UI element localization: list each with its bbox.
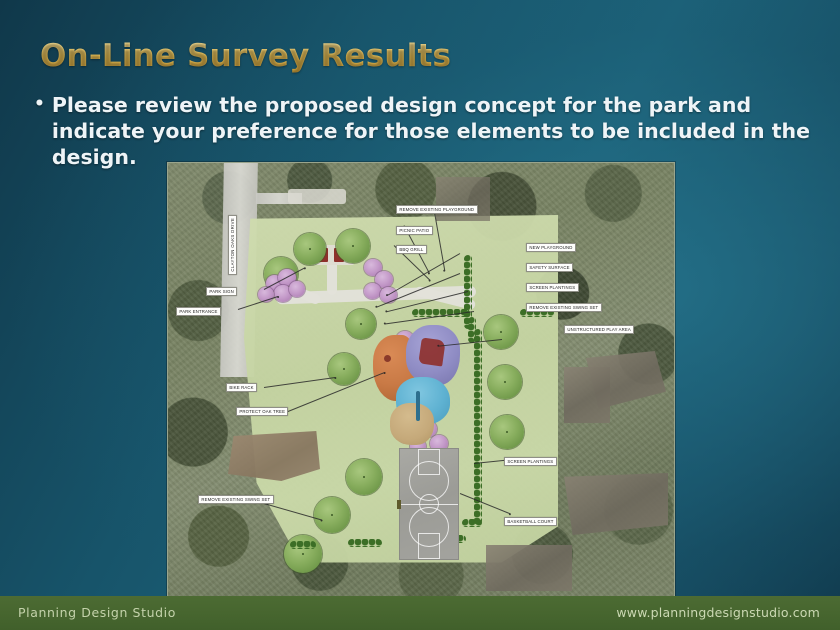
screen-planting-hedge	[462, 519, 482, 527]
tree	[328, 353, 360, 385]
callout-screen-plantings-top: SCREEN PLANTINGS	[526, 283, 579, 292]
callout-new-playground: NEW PLAYGROUND	[526, 243, 576, 252]
court-arc-top	[409, 461, 449, 501]
screen-planting-hedge	[290, 541, 316, 549]
presentation-slide: On-Line Survey Results • Please review t…	[0, 0, 840, 630]
callout-picnic-patio: PICNIC PATIO	[396, 226, 433, 235]
tree	[488, 365, 522, 399]
tree	[484, 315, 518, 349]
court-hoop	[397, 500, 401, 509]
bullet-marker-icon: •	[34, 92, 45, 171]
callout-remove-existing-swing-set-top: REMOVE EXISTING SWING SET	[526, 303, 602, 312]
tree	[314, 497, 350, 533]
callout-bbq-grill: BBQ GRILL	[396, 245, 427, 254]
court-arc-bottom	[409, 507, 449, 547]
play-structure-equipment	[418, 337, 445, 366]
callout-remove-existing-playground: REMOVE EXISTING PLAYGROUND	[396, 205, 478, 214]
tree	[336, 229, 370, 263]
screen-planting-hedge	[348, 539, 382, 547]
tree	[294, 233, 326, 265]
neighbor-house-east-mid	[564, 367, 610, 423]
play-zone-tan	[390, 403, 434, 445]
footer-website-url[interactable]: www.planningdesignstudio.com	[616, 605, 820, 620]
slide-footer: Planning Design Studio www.planningdesig…	[0, 596, 840, 630]
page-title: On-Line Survey Results	[40, 38, 451, 74]
callout-screen-plantings-bottom: SCREEN PLANTINGS	[504, 457, 557, 466]
tree	[490, 415, 524, 449]
neighbor-house-east-lower	[562, 473, 668, 535]
street-label-clayton-oaks-drive: CLAYTON OAKS DRIVE	[228, 215, 237, 275]
basketball-court-surface	[399, 448, 459, 560]
callout-park-entrance: PARK ENTRANCE	[176, 307, 221, 316]
bullet-paragraph: • Please review the proposed design conc…	[34, 92, 824, 171]
flowering-shrub	[289, 281, 305, 297]
bullet-text: Please review the proposed design concep…	[52, 92, 824, 171]
park-site-plan-image: CLAYTON OAKS DRIVE REMOVE EXISTING PLAYG…	[167, 162, 675, 598]
tree	[346, 309, 376, 339]
screen-planting-hedge	[474, 329, 482, 525]
callout-basketball-court: BASKETBALL COURT	[504, 517, 557, 526]
callout-remove-existing-swing-set-bottom: REMOVE EXISTING SWING SET	[198, 495, 274, 504]
footer-company-name: Planning Design Studio	[18, 605, 176, 620]
callout-park-sign: PARK SIGN	[206, 287, 237, 296]
play-structure-detail	[384, 355, 391, 362]
callout-unstructured-play-area: UNSTRUCTURED PLAY AREA	[564, 325, 634, 334]
tree	[346, 459, 382, 495]
neighbor-house-south	[486, 545, 572, 591]
callout-safety-surface: SAFETY SURFACE	[526, 263, 573, 272]
flowering-shrub	[364, 283, 381, 299]
callout-bike-rack: BIKE RACK	[226, 383, 257, 392]
callout-protect-oak-tree: PROTECT OAK TREE	[236, 407, 288, 416]
neighbor-driveway-pad	[288, 189, 346, 204]
play-structure-detail	[416, 391, 420, 421]
